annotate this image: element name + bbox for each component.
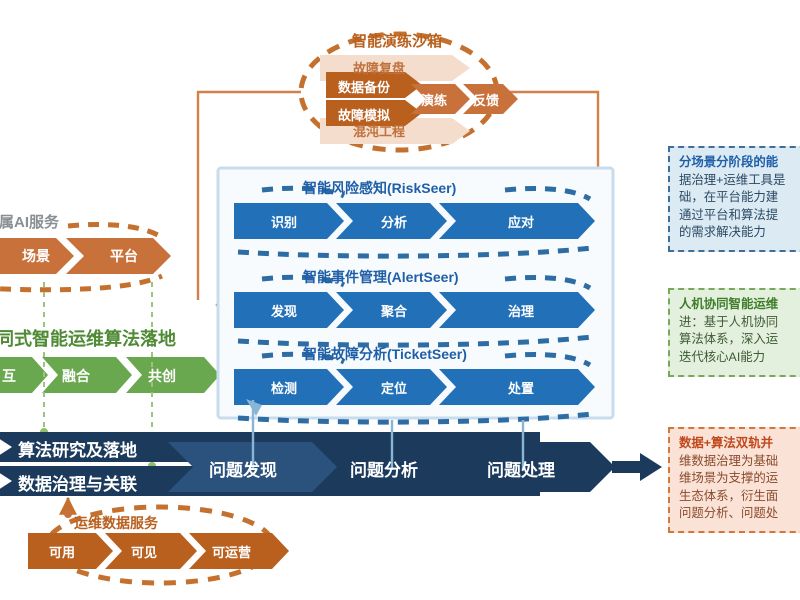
sandbox-chevron-drill-label: 演练 bbox=[421, 90, 447, 109]
pipeline-final-arrow bbox=[612, 453, 662, 481]
collab-chevron-cocreate-label: 共创 bbox=[148, 366, 176, 386]
core-chevron-identify-label: 识别 bbox=[271, 212, 297, 231]
pipeline-label-handle: 问题处理 bbox=[487, 456, 555, 481]
data-service-chevron-available-label: 可用 bbox=[49, 542, 75, 561]
card-scenario-capability-heading: 分场景分阶段的能 bbox=[679, 154, 800, 172]
data-service-uplink-dot bbox=[64, 510, 72, 518]
core-chevron-govern-label: 治理 bbox=[508, 301, 534, 320]
core-row-title-alertseer: 智能事件管理(AlertSeer) bbox=[303, 267, 459, 287]
core-chevron-detect-label: 发现 bbox=[271, 301, 297, 320]
card-dual-track: 数据+算法双轨并 维数据治理为基础 维场景为支撑的运 生态体系，衍生面 问题分析… bbox=[668, 427, 800, 533]
sandbox-row-fault-review-label: 故障复盘 bbox=[353, 58, 405, 77]
card-human-machine: 人机协同智能运维 进：基于人机协同 算法体系，深入运 迭代核心AI能力 bbox=[668, 288, 800, 377]
ai-service-chevron-scene-label: 场景 bbox=[22, 246, 50, 266]
pipeline-label-analyze: 问题分析 bbox=[350, 456, 418, 481]
data-service-title: 运维数据服务 bbox=[74, 513, 158, 533]
pipeline-label-discover: 问题发现 bbox=[209, 456, 277, 481]
card-human-machine-heading: 人机协同智能运维 bbox=[679, 296, 800, 314]
card-human-machine-body: 进：基于人机协同 算法体系，深入运 迭代核心AI能力 bbox=[679, 314, 800, 367]
collab-chevron-interact-label: 互 bbox=[2, 366, 16, 386]
core-chevron-locate-label: 定位 bbox=[381, 378, 407, 397]
sandbox-chevron-feedback-label: 反馈 bbox=[473, 90, 499, 109]
sandbox-row-backup-label: 数据备份 bbox=[338, 77, 390, 96]
sandbox-row-simulate-label: 故障模拟 bbox=[338, 105, 390, 124]
core-row-title-ticketseer: 智能故障分析(TicketSeer) bbox=[303, 344, 467, 364]
core-chevron-aggregate-label: 聚合 bbox=[381, 301, 407, 320]
data-service-chevron-operable-label: 可运营 bbox=[212, 542, 251, 561]
ai-service-dash-top bbox=[68, 225, 163, 239]
card-scenario-capability: 分场景分阶段的能 据治理+运维工具是 础，在平台能力建 通过平台和算法提 的需求… bbox=[668, 146, 800, 252]
ai-service-title: 专属AI服务 bbox=[0, 211, 59, 232]
collab-title: 协同式智能运维算法落地 bbox=[0, 325, 176, 351]
card-scenario-capability-body: 据治理+运维工具是 础，在平台能力建 通过平台和算法提 的需求解决能力 bbox=[679, 172, 800, 242]
foundation-label-algorithm: 算法研究及落地 bbox=[18, 436, 137, 461]
collab-chevron-fusion-label: 融合 bbox=[62, 366, 90, 386]
foundation-label-data: 数据治理与关联 bbox=[18, 470, 137, 495]
card-dual-track-body: 维数据治理为基础 维场景为支撑的运 生态体系，衍生面 问题分析、问题处 bbox=[679, 453, 800, 523]
core-row-title-riskseer: 智能风险感知(RiskSeer) bbox=[303, 178, 456, 198]
ai-service-dash-bottom bbox=[0, 276, 162, 290]
sandbox-title: 智能演练沙箱 bbox=[352, 30, 442, 51]
core-chevron-check-label: 检测 bbox=[271, 378, 297, 397]
core-chevron-respond-label: 应对 bbox=[508, 212, 534, 231]
diagram-canvas: 智能演练沙箱 故障复盘 混沌工程 数据备份 故障模拟 演练 反馈 专属AI服务 … bbox=[0, 0, 800, 600]
data-service-chevron-visible-label: 可见 bbox=[131, 542, 157, 561]
core-chevron-analyze-label: 分析 bbox=[381, 212, 407, 231]
ai-service-chevron-platform-label: 平台 bbox=[110, 246, 138, 266]
card-dual-track-heading: 数据+算法双轨并 bbox=[679, 435, 800, 453]
core-chevron-dispose-label: 处置 bbox=[508, 378, 534, 397]
